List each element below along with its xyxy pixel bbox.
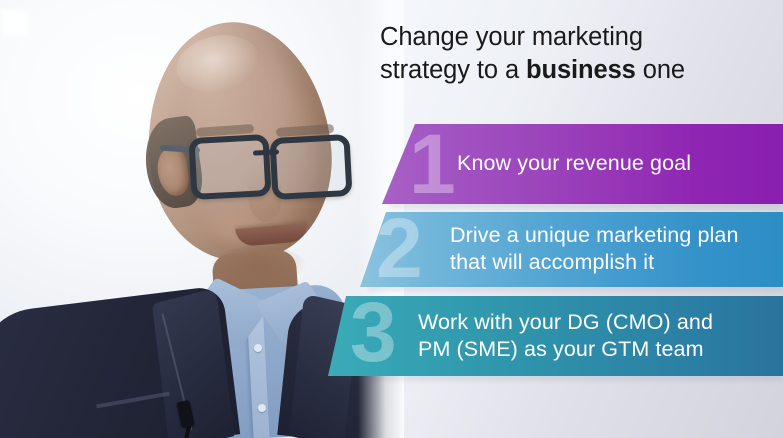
page-title-line-2-suffix: one — [636, 56, 685, 84]
step-number-2: 2 — [376, 212, 423, 287]
step-text-2-line-2: that will accomplish it — [450, 250, 654, 274]
speaker-chin-shadow — [210, 246, 306, 286]
shirt-button — [254, 344, 262, 352]
step-banner-3[interactable]: 3 Work with your DG (CMO) and PM (SME) a… — [328, 296, 783, 376]
glasses-lens-left — [188, 134, 271, 200]
step-number-1: 1 — [409, 124, 456, 204]
step-text-1: Know your revenue goal — [457, 150, 691, 177]
step-banner-1[interactable]: 1 Know your revenue goal — [382, 124, 783, 204]
slide-canvas: Change your marketing strategy to a busi… — [0, 0, 783, 438]
photo-corner-highlight — [2, 10, 28, 36]
step-banner-2[interactable]: 2 Drive a unique marketing plan that wil… — [360, 212, 783, 287]
page-title-line-1: Change your marketing — [380, 23, 643, 51]
page-title-line-2-prefix: strategy to a — [380, 56, 526, 84]
page-title-emphasis: business — [526, 56, 636, 84]
step-text-2-line-1: Drive a unique marketing plan — [450, 223, 739, 247]
step-text-3-line-1: Work with your DG (CMO) and — [418, 310, 713, 334]
step-text-3-line-2: PM (SME) as your GTM team — [418, 337, 704, 361]
page-title: Change your marketing strategy to a busi… — [380, 21, 776, 87]
step-text-3: Work with your DG (CMO) and PM (SME) as … — [418, 309, 713, 363]
glasses-lens-right — [269, 134, 352, 200]
step-text-2: Drive a unique marketing plan that will … — [450, 222, 739, 276]
step-number-3: 3 — [350, 296, 397, 374]
shirt-button — [258, 404, 266, 412]
